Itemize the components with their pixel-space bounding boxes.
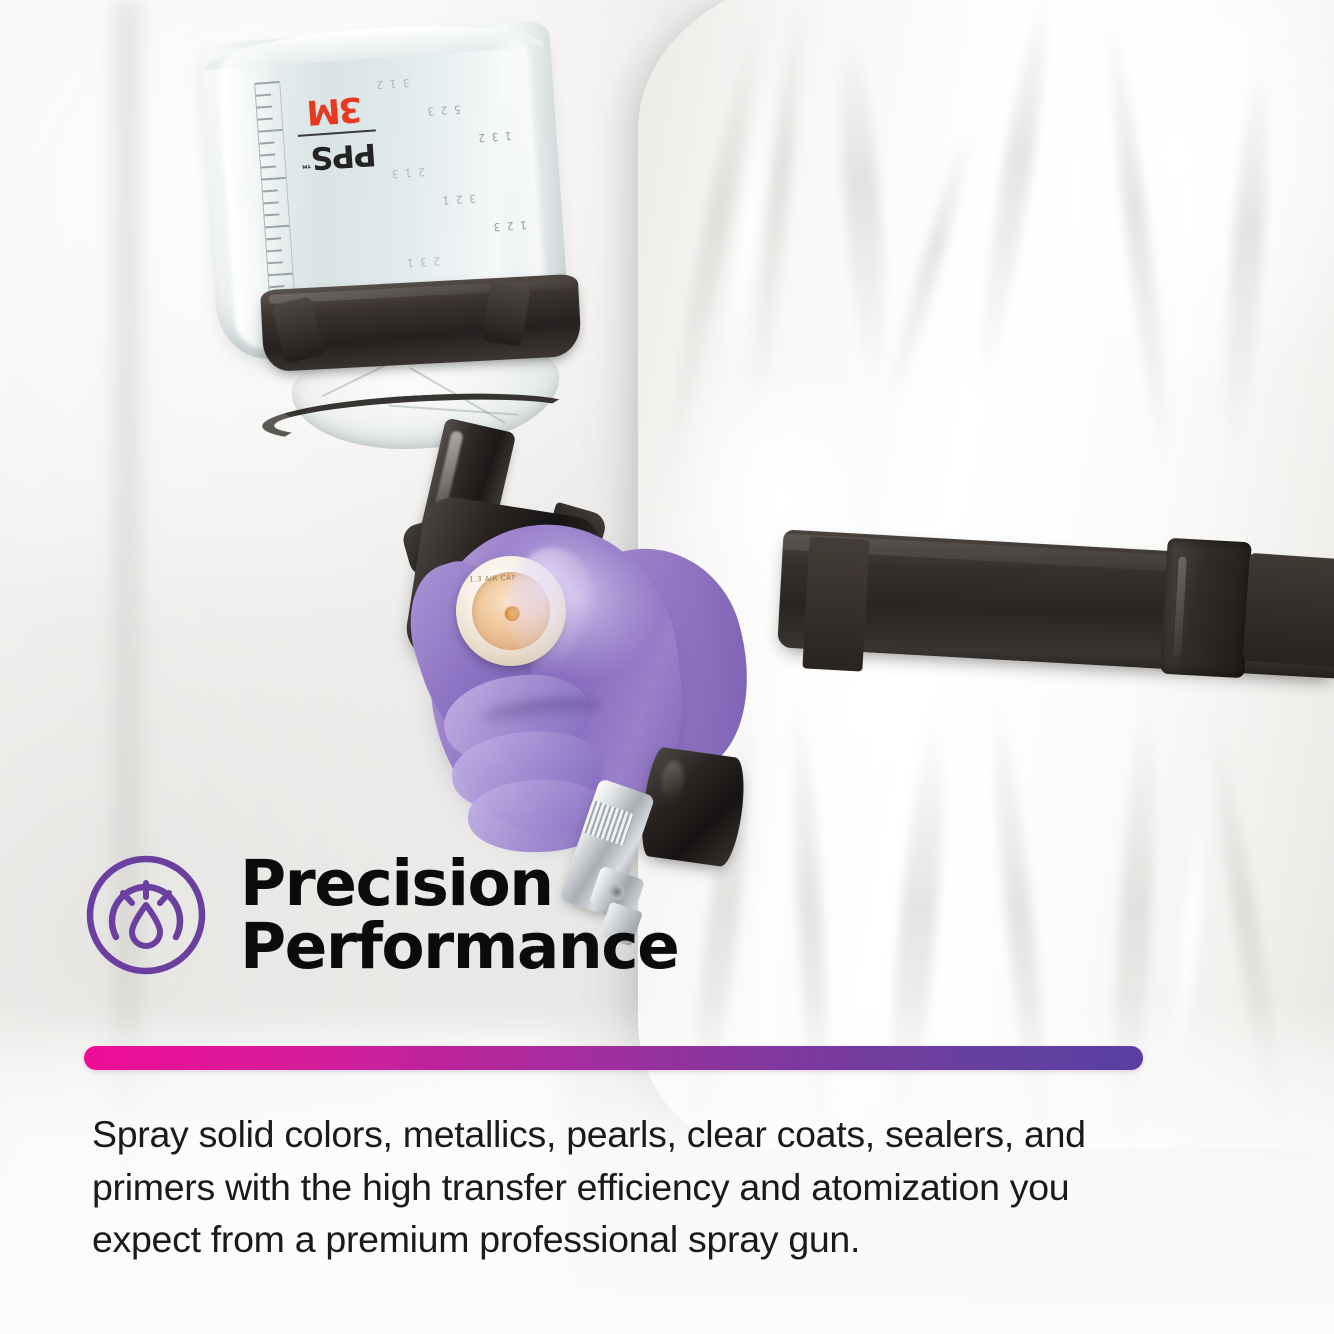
- feature-description: Spray solid colors, metallics, pearls, c…: [92, 1108, 1164, 1266]
- feature-block: Precision Performance: [84, 852, 678, 978]
- belt-notch: [802, 536, 869, 671]
- feature-heading: Precision Performance: [240, 852, 678, 978]
- pressure-gauge: [637, 746, 749, 869]
- product-feature-card: PPS™ 3M 3 1 25 2 31 3 22 1 33 2 11 2 32 …: [0, 0, 1334, 1334]
- belt-tail: [1242, 553, 1334, 667]
- cup-brand-lockup: PPS™ 3M: [295, 91, 378, 174]
- glove-highlight: [506, 548, 598, 668]
- 3m-logo: 3M: [295, 91, 375, 130]
- gradient-divider: [84, 1046, 1143, 1070]
- belt-buckle: [1160, 538, 1251, 678]
- pps-wordmark: PPS™: [298, 137, 378, 173]
- gauge-droplet-icon: [84, 853, 208, 977]
